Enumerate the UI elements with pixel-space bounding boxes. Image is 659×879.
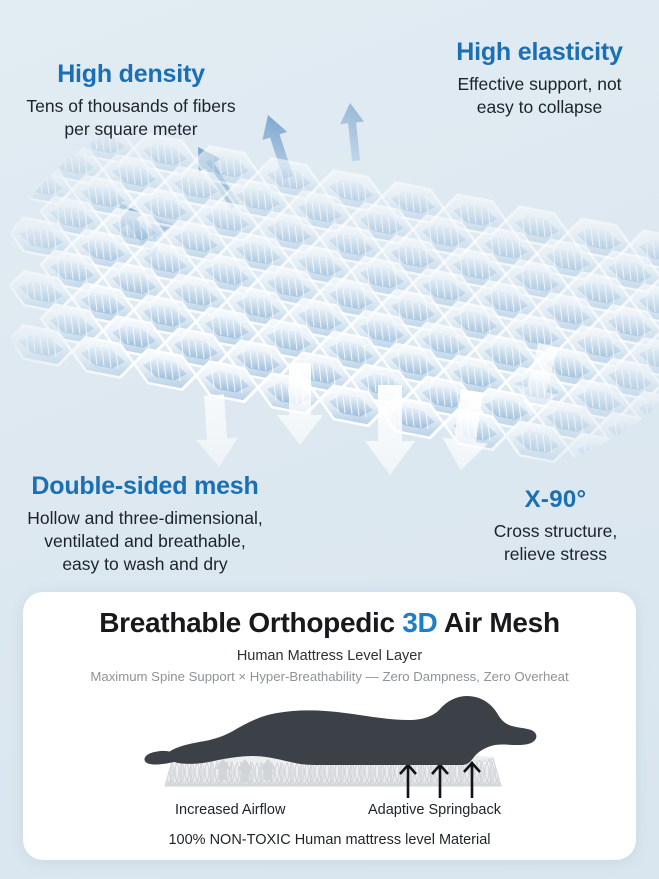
feature-body-line: relieve stress (504, 544, 607, 564)
infographic-canvas: High density Tens of thousands of fibers… (0, 0, 659, 879)
feature-x-90: X-90° Cross structure, relieve stress (452, 486, 659, 566)
feature-title: Double-sided mesh (0, 472, 290, 501)
feature-title: X-90° (452, 486, 659, 514)
dog-mesh-graphic (23, 686, 636, 804)
feature-double-sided-mesh: Double-sided mesh Hollow and three-dimen… (0, 472, 290, 576)
caption-increased-airflow: Increased Airflow (175, 802, 285, 818)
feature-body: Effective support, not easy to collapse (420, 73, 659, 119)
feature-body-line: easy to collapse (477, 97, 603, 117)
honeycomb-slab (10, 108, 659, 495)
feature-body-line: Effective support, not (457, 74, 621, 94)
caption-adaptive-springback: Adaptive Springback (368, 802, 501, 818)
card-tagline: Maximum Spine Support × Hyper-Breathabil… (23, 669, 636, 684)
dog-silhouette (144, 696, 536, 765)
dog-on-mesh-illustration (23, 686, 636, 804)
air-mesh-illustration (0, 95, 659, 515)
product-summary-card: Breathable Orthopedic 3D Air Mesh Human … (23, 592, 636, 860)
feature-body: Hollow and three-dimensional, ventilated… (0, 507, 290, 576)
card-title-highlight: 3D (402, 607, 437, 638)
caption-row: Increased Airflow Adaptive Springback (23, 802, 636, 824)
card-footer: 100% NON-TOXIC Human mattress level Mate… (23, 832, 636, 848)
feature-body-line: ventilated and breathable, (44, 531, 245, 551)
air-mesh-graphic (0, 95, 659, 515)
card-subtitle: Human Mattress Level Layer (23, 648, 636, 664)
card-title-before: Breathable Orthopedic (99, 607, 402, 638)
feature-body-line: easy to wash and dry (62, 554, 227, 574)
feature-body-line: Tens of thousands of fibers (26, 96, 235, 116)
feature-title: High density (0, 60, 262, 89)
feature-high-density: High density Tens of thousands of fibers… (0, 60, 262, 141)
feature-title: High elasticity (420, 38, 659, 67)
feature-body-line: per square meter (64, 119, 197, 139)
feature-body-line: Hollow and three-dimensional, (27, 508, 262, 528)
card-title: Breathable Orthopedic 3D Air Mesh (23, 592, 636, 639)
card-title-after: Air Mesh (437, 607, 559, 638)
feature-body-line: Cross structure, (494, 521, 618, 541)
feature-body: Tens of thousands of fibers per square m… (0, 95, 262, 141)
feature-body: Cross structure, relieve stress (452, 520, 659, 566)
feature-high-elasticity: High elasticity Effective support, not e… (420, 38, 659, 119)
